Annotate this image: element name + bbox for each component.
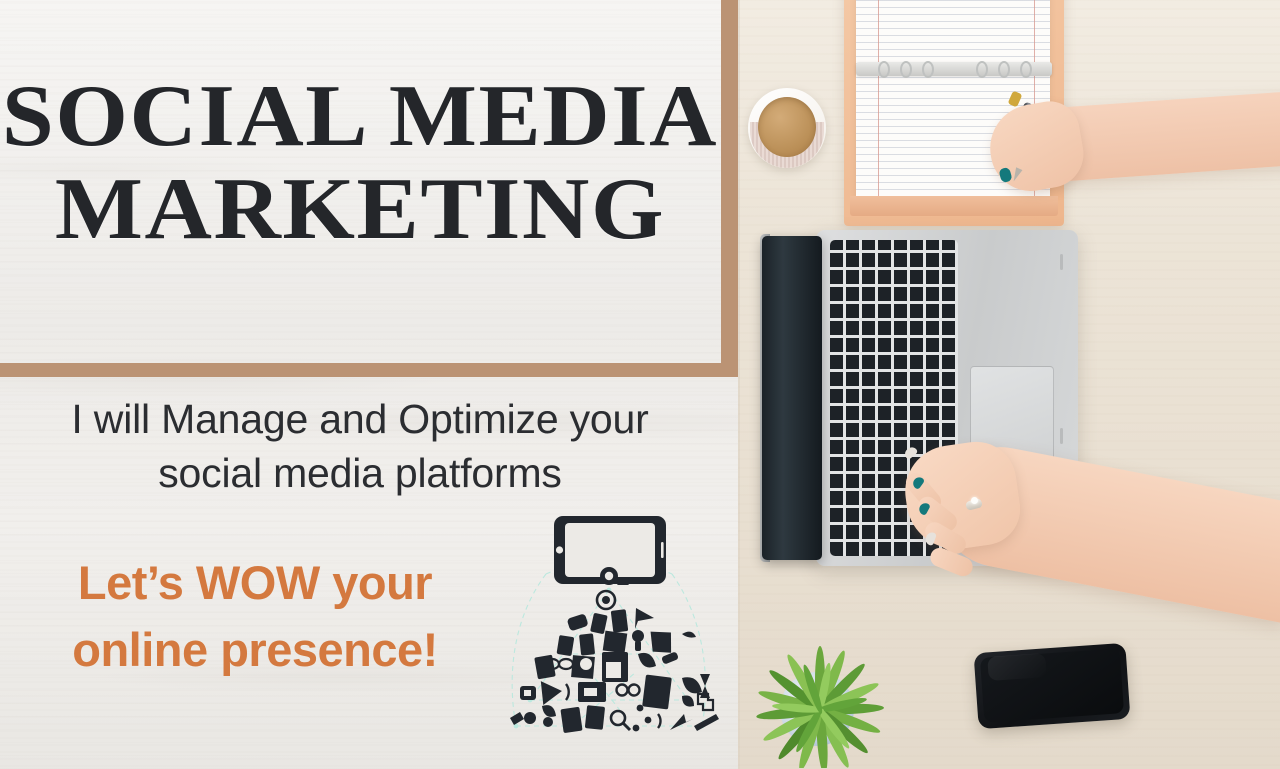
laptop-vent bbox=[1060, 254, 1063, 270]
plant-foliage bbox=[754, 584, 886, 768]
tagline-line-2: online presence! bbox=[30, 617, 480, 684]
subtitle: I will Manage and Optimize your social m… bbox=[0, 392, 720, 500]
panel-photo-seam bbox=[738, 0, 740, 769]
notebook-ring bbox=[900, 61, 912, 78]
content-icon-pile bbox=[510, 591, 719, 733]
coffee-liquid bbox=[758, 97, 816, 157]
notebook-ring bbox=[878, 61, 890, 78]
subtitle-line-1: I will Manage and Optimize your bbox=[0, 392, 720, 446]
subtitle-line-2: social media platforms bbox=[0, 446, 720, 500]
tagline: Let’s WOW your online presence! bbox=[30, 550, 480, 683]
notebook-ring bbox=[998, 61, 1010, 78]
social-media-marketing-banner: SOCIAL MEDIA MARKETING I will Manage and… bbox=[0, 0, 1280, 769]
frame-border-corner bbox=[721, 356, 738, 377]
notebook-margin-left bbox=[878, 0, 879, 196]
laptop-vent bbox=[1060, 428, 1063, 444]
smartphone-glare bbox=[987, 653, 1047, 681]
title-line-2: MARKETING bbox=[0, 163, 742, 256]
page-title: SOCIAL MEDIA MARKETING bbox=[0, 70, 720, 257]
laptop-screen-lid bbox=[762, 236, 822, 560]
ring-stone bbox=[971, 497, 978, 504]
notebook-ring bbox=[976, 61, 988, 78]
notebook-cover-flap bbox=[850, 196, 1058, 216]
desk-workspace-photo: {} bbox=[738, 0, 1280, 769]
social-media-content-cluster-graphic bbox=[486, 504, 732, 750]
notebook-ring bbox=[1020, 61, 1032, 78]
tablet-icon bbox=[554, 516, 666, 585]
notebook-ring bbox=[922, 61, 934, 78]
frame-border-horizontal bbox=[0, 363, 738, 377]
title-line-1: SOCIAL MEDIA bbox=[0, 70, 742, 163]
tagline-line-1: Let’s WOW your bbox=[30, 550, 480, 617]
